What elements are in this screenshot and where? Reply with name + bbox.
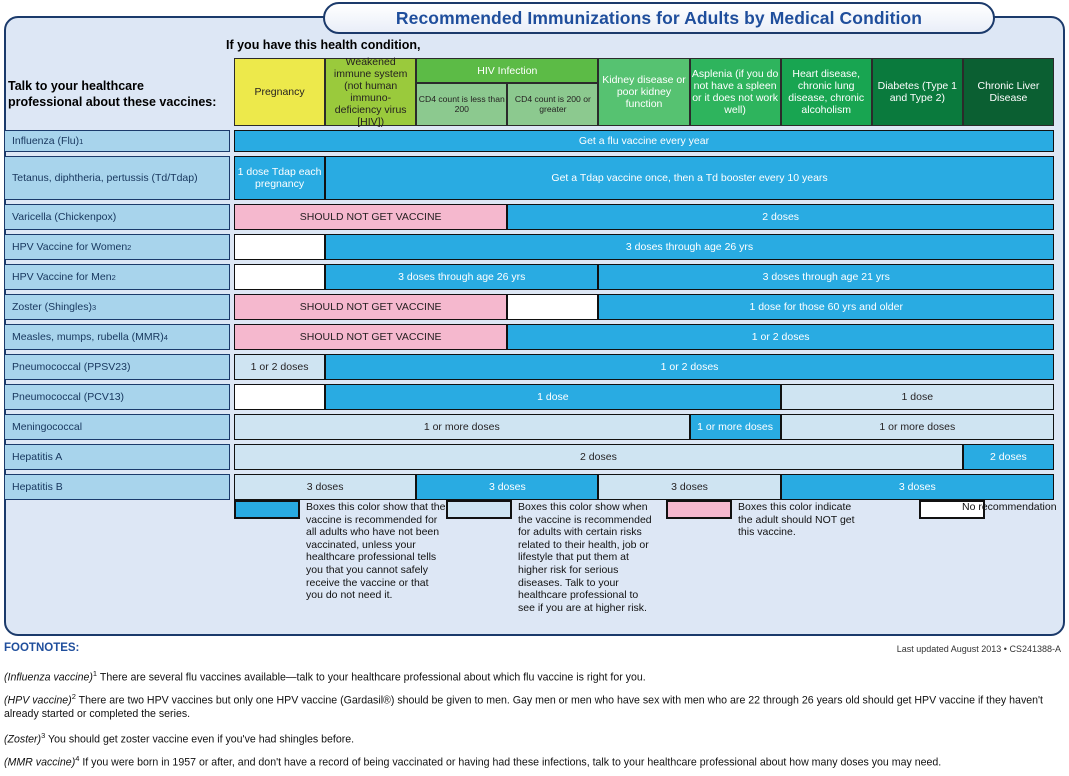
footnote-text: There are several flu vaccines available… [97,672,646,684]
cell-r5-c0: SHOULD NOT GET VACCINE [234,294,507,320]
cell-r9-c0: 1 or more doses [234,414,690,440]
footnotes-heading: FOOTNOTES: [4,642,79,654]
column-header-5: Heart disease, chronic lung disease, chr… [781,58,872,126]
row-label-text: Meningococcal [12,421,82,433]
row-label-7: Pneumococcal (PPSV23) [4,354,230,380]
cell-r1-c1: Get a Tdap vaccine once, then a Td boost… [325,156,1054,200]
cell-r4-c0 [234,264,325,290]
row-label-text: Pneumococcal (PPSV23) [12,361,130,373]
row-label-footnote-marker: 2 [112,273,116,282]
row-label-footnote-marker: 3 [92,303,96,312]
footnote-text: There are two HPV vaccines but only one … [4,695,1043,721]
cell-r11-c2: 3 doses [598,474,780,500]
cell-r5-c2: 1 dose for those 60 yrs and older [598,294,1054,320]
cell-r2-c1: 2 doses [507,204,1054,230]
footnote-label: (HPV vaccine) [4,695,72,707]
row-label-text: Varicella (Chickenpox) [12,211,116,223]
row-label-2: Varicella (Chickenpox) [4,204,230,230]
cell-r3-c0 [234,234,325,260]
legend-swatch-ltblue [446,500,512,519]
title-banner: Recommended Immunizations for Adults by … [323,2,995,34]
cell-r5-c1 [507,294,598,320]
column-header-6: Diabetes (Type 1 and Type 2) [872,58,963,126]
cell-r7-c0: 1 or 2 doses [234,354,325,380]
footnote-label: (Zoster) [4,734,41,746]
row-label-text: HPV Vaccine for Women [12,241,127,253]
last-updated-text: Last updated August 2013 • CS241388-A [897,644,1061,654]
cell-r6-c0: SHOULD NOT GET VACCINE [234,324,507,350]
footnote-2: (HPV vaccine)2 There are two HPV vaccine… [4,690,1060,722]
column-header-7: Chronic Liver Disease [963,58,1054,126]
row-label-footnote-marker: 2 [127,243,131,252]
cell-r11-c1: 3 doses [416,474,598,500]
row-label-text: Measles, mumps, rubella (MMR) [12,331,164,343]
row-label-8: Pneumococcal (PCV13) [4,384,230,410]
row-label-text: Influenza (Flu) [12,135,79,147]
footnote-text: You should get zoster vaccine even if yo… [45,734,354,746]
row-label-9: Meningococcal [4,414,230,440]
legend-text-white: No recommendation [962,501,1066,514]
row-label-text: Tetanus, diphtheria, pertussis (Td/Tdap) [12,172,198,184]
footnote-1: (Influenza vaccine)1 There are several f… [4,667,1060,685]
legend-swatch-pink [666,500,732,519]
row-label-footnote-marker: 4 [164,333,168,342]
footnote-text: If you were born in 1957 or after, and d… [79,757,941,769]
cell-r8-c2: 1 dose [781,384,1054,410]
legend-text-blue: Boxes this color show that the vaccine i… [306,501,446,602]
column-subheader-cd4-gte200: CD4 count is 200 or greater [507,83,598,126]
row-label-5: Zoster (Shingles)3 [4,294,230,320]
footnote-4: (MMR vaccine)4 If you were born in 1957 … [4,752,1060,770]
footnote-label: (Influenza vaccine) [4,672,93,684]
cell-r9-c2: 1 or more doses [781,414,1054,440]
cell-r8-c0 [234,384,325,410]
condition-prompt: If you have this health condition, [226,38,420,52]
row-label-text: Hepatitis B [12,481,63,493]
row-label-11: Hepatitis B [4,474,230,500]
cell-r8-c1: 1 dose [325,384,781,410]
column-header-4: Asplenia (if you do not have a spleen or… [690,58,781,126]
footnote-3: (Zoster)3 You should get zoster vaccine … [4,729,1060,747]
legend-text-pink: Boxes this color indicate the adult shou… [738,501,868,539]
legend-text-ltblue: Boxes this color show when the vaccine i… [518,501,658,614]
cell-r0-c0: Get a flu vaccine every year [234,130,1054,152]
column-header-3: Kidney disease or poor kidney function [598,58,689,126]
row-label-text: Zoster (Shingles) [12,301,92,313]
cell-r1-c0: 1 dose Tdap each pregnancy [234,156,325,200]
row-label-text: HPV Vaccine for Men [12,271,112,283]
cell-r7-c1: 1 or 2 doses [325,354,1054,380]
footnote-label: (MMR vaccine) [4,757,75,769]
vaccine-prompt: Talk to your healthcare professional abo… [8,78,220,110]
cell-r10-c0: 2 doses [234,444,963,470]
row-label-text: Hepatitis A [12,451,62,463]
cell-r11-c0: 3 doses [234,474,416,500]
column-header-0: Pregnancy [234,58,325,126]
row-label-4: HPV Vaccine for Men2 [4,264,230,290]
row-label-footnote-marker: 1 [79,137,83,146]
cell-r9-c1: 1 or more doses [690,414,781,440]
cell-r11-c3: 3 doses [781,474,1054,500]
row-label-1: Tetanus, diphtheria, pertussis (Td/Tdap) [4,156,230,200]
row-label-text: Pneumococcal (PCV13) [12,391,124,403]
row-label-6: Measles, mumps, rubella (MMR)4 [4,324,230,350]
page-title: Recommended Immunizations for Adults by … [396,8,922,29]
legend-swatch-blue [234,500,300,519]
cell-r3-c1: 3 doses through age 26 yrs [325,234,1054,260]
cell-r6-c1: 1 or 2 doses [507,324,1054,350]
row-label-3: HPV Vaccine for Women2 [4,234,230,260]
row-label-10: Hepatitis A [4,444,230,470]
cell-r4-c2: 3 doses through age 21 yrs [598,264,1054,290]
cell-r10-c1: 2 doses [963,444,1054,470]
cell-r2-c0: SHOULD NOT GET VACCINE [234,204,507,230]
column-header-1: Weakened immune system (not human immuno… [325,58,416,126]
column-header-hiv: HIV Infection [416,58,598,83]
row-label-0: Influenza (Flu)1 [4,130,230,152]
cell-r4-c1: 3 doses through age 26 yrs [325,264,598,290]
column-subheader-cd4-lt200: CD4 count is less than 200 [416,83,507,126]
